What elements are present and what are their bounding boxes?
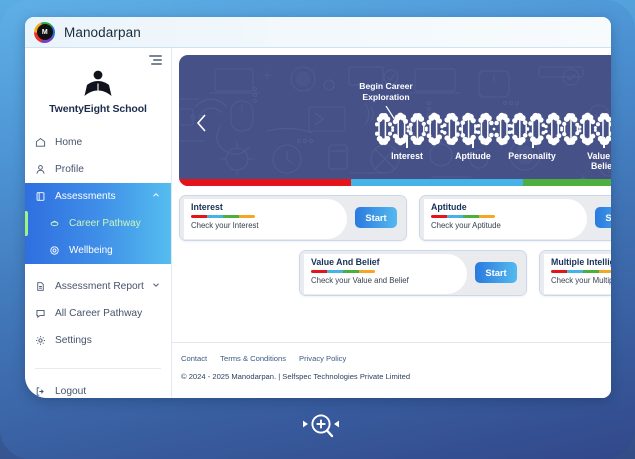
sidebar-item-profile[interactable]: Profile	[25, 156, 171, 183]
segment-green	[223, 215, 239, 218]
segment-blue	[447, 215, 463, 218]
sidebar-item-label: Settings	[55, 335, 92, 346]
sidebar-item-label: Wellbeing	[69, 245, 113, 256]
progress-segment-green	[523, 179, 612, 186]
segment-orange	[479, 215, 495, 218]
footer-link-contact[interactable]: Contact	[181, 354, 207, 363]
hero-caption-connector	[385, 106, 399, 124]
logo-monogram: M	[37, 24, 53, 40]
card-title: Aptitude	[431, 202, 611, 212]
stage-tick	[472, 137, 474, 148]
target-icon	[49, 245, 65, 256]
sidebar-item-label: Profile	[55, 164, 84, 175]
app-title: Manodarpan	[64, 25, 141, 40]
footer-link-terms[interactable]: Terms & Conditions	[220, 354, 286, 363]
assessment-card-aptitude[interactable]: Aptitude Check your Aptitude Start	[419, 195, 611, 241]
logout-icon	[35, 386, 51, 397]
chevron-down-icon	[151, 280, 161, 293]
school-name: TwentyEight School	[31, 103, 165, 115]
sidebar-item-label: Assessments	[55, 191, 116, 202]
footer-link-privacy[interactable]: Privacy Policy	[299, 354, 346, 363]
segment-red	[431, 215, 447, 218]
card-segment-bar	[311, 270, 375, 273]
chevron-up-icon	[151, 190, 161, 203]
manodarpan-logo-icon: M	[34, 22, 55, 43]
sidebar-nav: Home Profile	[25, 129, 171, 398]
hero-caption: Begin Career Exploration	[351, 81, 421, 102]
user-icon	[35, 164, 51, 175]
segment-blue	[327, 270, 343, 273]
assessment-card-multiple-intelligence[interactable]: Multiple Intelligence Check your Multipl…	[539, 250, 611, 296]
sidebar-item-settings[interactable]: Settings	[25, 327, 171, 354]
zoom-in-resize-icon[interactable]	[295, 410, 347, 442]
sidebar-item-assessment-report[interactable]: Assessment Report	[25, 273, 171, 300]
stage-tick	[603, 137, 605, 148]
sidebar-item-career-pathway[interactable]: Career Pathway	[25, 210, 171, 237]
sidebar-item-wellbeing[interactable]: Wellbeing	[25, 237, 171, 264]
stage-tick	[406, 137, 408, 148]
assessment-card-interest[interactable]: Interest Check your Interest Start	[179, 195, 407, 241]
book-icon	[35, 191, 51, 202]
hero-progress-bar	[179, 179, 611, 186]
card-segment-bar	[191, 215, 255, 218]
app-header: M Manodarpan	[25, 17, 611, 48]
footer: Contact Terms & Conditions Privacy Polic…	[172, 342, 611, 398]
sidebar-item-label: Logout	[55, 386, 86, 397]
dna-helix-graphic	[375, 108, 611, 150]
segment-red	[191, 215, 207, 218]
chat-icon	[35, 308, 51, 319]
card-segment-bar	[551, 270, 611, 273]
hero-prev-arrow-icon[interactable]	[195, 113, 209, 133]
sidebar: TwentyEight School Home	[25, 48, 172, 398]
segment-blue	[567, 270, 583, 273]
segment-orange	[599, 270, 611, 273]
document-icon	[35, 281, 51, 292]
sidebar-item-assessments[interactable]: Assessments	[25, 183, 171, 210]
gear-icon	[35, 335, 51, 346]
segment-green	[583, 270, 599, 273]
card-title: Multiple Intelligence	[551, 257, 611, 267]
segment-green	[463, 215, 479, 218]
school-logo-icon	[81, 70, 115, 98]
start-button[interactable]: Start	[595, 207, 611, 228]
sidebar-item-logout[interactable]: Logout	[25, 378, 171, 398]
hero-banner: Begin Career Exploration Interest	[179, 55, 611, 186]
sidebar-item-all-career-pathway[interactable]: All Career Pathway	[25, 300, 171, 327]
assessment-card-value-and-belief[interactable]: Value And Belief Check your Value and Be…	[299, 250, 527, 296]
sidebar-item-label: All Career Pathway	[55, 308, 142, 319]
stage-label-value-belief: Value & Belief	[577, 151, 611, 171]
stage-label-personality: Personality	[492, 151, 572, 161]
segment-orange	[359, 270, 375, 273]
collapse-menu-icon[interactable]	[149, 55, 162, 65]
sidebar-item-label: Career Pathway	[69, 218, 141, 229]
card-subtitle: Check your Multiple Intelligence	[551, 276, 611, 285]
segment-green	[343, 270, 359, 273]
segment-red	[311, 270, 327, 273]
card-segment-bar	[431, 215, 495, 218]
sidebar-item-label: Assessment Report	[55, 281, 144, 292]
start-button[interactable]: Start	[355, 207, 397, 228]
stage-tick	[532, 137, 534, 148]
segment-red	[551, 270, 567, 273]
main-content: Begin Career Exploration Interest	[172, 48, 611, 398]
sidebar-divider	[35, 368, 161, 369]
path-icon	[49, 218, 65, 229]
footer-copyright: © 2024 - 2025 Manodarpan. | Selfspec Tec…	[181, 372, 611, 381]
card-subtitle: Check your Aptitude	[431, 221, 611, 230]
start-button[interactable]: Start	[475, 262, 517, 283]
footer-links: Contact Terms & Conditions Privacy Polic…	[181, 354, 611, 363]
stage-label-interest: Interest	[371, 151, 443, 161]
segment-orange	[239, 215, 255, 218]
sidebar-item-label: Home	[55, 137, 82, 148]
progress-segment-blue	[351, 179, 523, 186]
home-icon	[35, 137, 51, 148]
segment-blue	[207, 215, 223, 218]
device-frame: M Manodarpan TwentyEight School	[0, 0, 635, 459]
progress-segment-red	[179, 179, 351, 186]
sidebar-item-home[interactable]: Home	[25, 129, 171, 156]
browser-window: M Manodarpan TwentyEight School	[25, 17, 611, 398]
